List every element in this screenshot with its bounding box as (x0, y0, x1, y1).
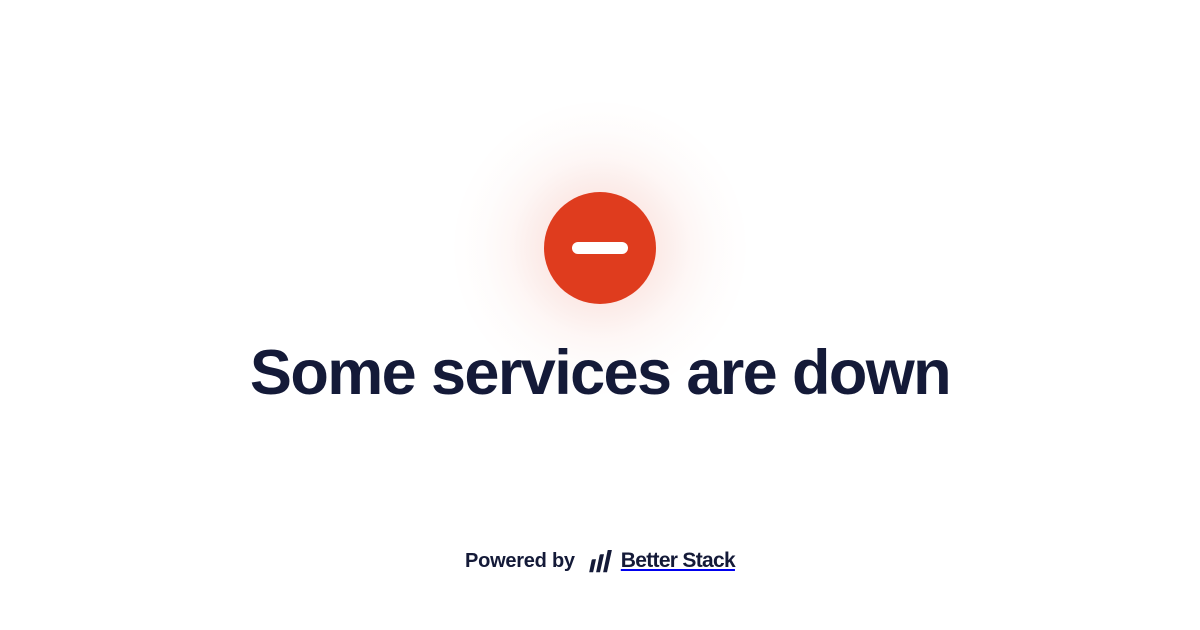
better-stack-brand-link[interactable]: Better Stack (588, 548, 735, 574)
page-title: Some services are down (0, 336, 1200, 410)
powered-by-label: Powered by (465, 548, 575, 574)
better-stack-wordmark: Better Stack (621, 548, 735, 574)
status-icon (544, 192, 656, 304)
status-page: Some services are down Powered by Better… (0, 0, 1200, 630)
footer: Powered by Better Stack (0, 548, 1200, 574)
better-stack-logo-icon (588, 550, 613, 573)
minus-circle-icon (544, 192, 656, 304)
minus-icon (572, 242, 628, 254)
